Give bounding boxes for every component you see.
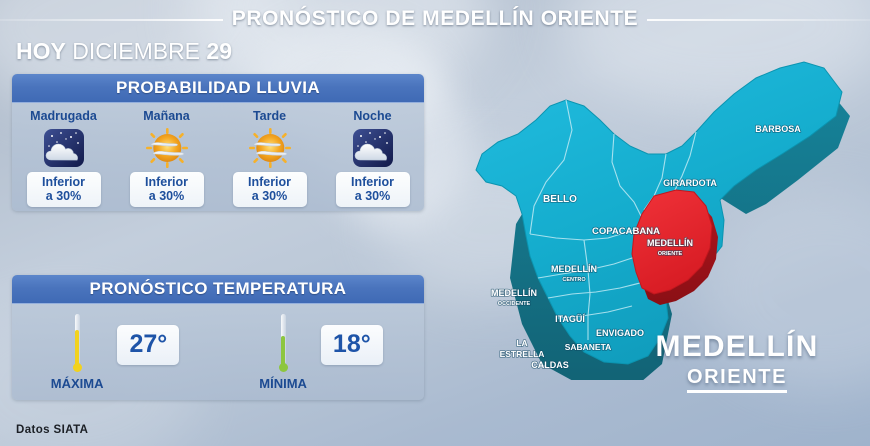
rain-value-box: Inferior a 30% bbox=[130, 172, 204, 207]
map-label-caldas: CALDAS bbox=[531, 360, 569, 370]
map-label-medellin-centro: MEDELLÍN bbox=[551, 264, 597, 274]
rain-value-line1: Inferior bbox=[137, 175, 197, 189]
temperature-panel-header: PRONÓSTICO TEMPERATURA bbox=[12, 275, 424, 304]
map-big-subtitle: ORIENTE bbox=[687, 366, 787, 393]
page-title-row: PRONÓSTICO DE MEDELLÍN ORIENTE bbox=[0, 4, 870, 34]
rain-value-line1: Inferior bbox=[343, 175, 403, 189]
night-cloud-icon bbox=[350, 124, 396, 172]
map-label-sabaneta: SABANETA bbox=[565, 342, 612, 352]
map-big-title: MEDELLÍN bbox=[612, 330, 862, 364]
map-label-medellin-occidente: MEDELLÍN bbox=[491, 288, 537, 298]
rain-column-manana: Mañana bbox=[115, 103, 218, 211]
night-cloud-icon bbox=[41, 124, 87, 172]
rain-period-label: Noche bbox=[353, 109, 391, 123]
rain-value-line2: a 30% bbox=[137, 189, 197, 203]
rain-column-madrugada: Madrugada bbox=[12, 103, 115, 211]
rain-value-box: Inferior a 30% bbox=[233, 172, 307, 207]
min-value-box: 18° bbox=[321, 325, 383, 365]
thermometer-min-icon bbox=[279, 314, 288, 372]
rain-column-tarde: Tarde bbox=[218, 103, 321, 211]
rain-panel-header: PROBABILIDAD LLUVIA bbox=[12, 74, 424, 103]
page-title: PRONÓSTICO DE MEDELLÍN ORIENTE bbox=[223, 7, 648, 31]
rain-value-line2: a 30% bbox=[240, 189, 300, 203]
temperature-panel: PRONÓSTICO TEMPERATURA MÁXIMA 27° bbox=[12, 275, 424, 400]
temperature-panel-body: MÁXIMA 27° MÍNIMA 18° bbox=[12, 304, 424, 400]
max-value: 27° bbox=[129, 330, 167, 358]
rain-period-label: Mañana bbox=[143, 109, 190, 123]
rain-panel-body: Madrugada bbox=[12, 103, 424, 211]
max-label: MÁXIMA bbox=[51, 376, 104, 391]
map-label-medellin-occidente-sub: OCCIDENTE bbox=[498, 301, 531, 307]
map-title-block: MEDELLÍN ORIENTE bbox=[612, 330, 862, 393]
map-label-copacabana: COPACABANA bbox=[592, 226, 660, 237]
map-label-medellin-oriente-sub: ORIENTE bbox=[658, 251, 683, 257]
map-label-la-estrella-sub: ESTRELLA bbox=[500, 349, 545, 359]
rain-value-line1: Inferior bbox=[34, 175, 94, 189]
map-label-medellin-oriente: MEDELLÍN bbox=[647, 238, 693, 248]
rain-period-label: Tarde bbox=[253, 109, 286, 123]
title-rule-left bbox=[0, 19, 223, 21]
map-label-bello: BELLO bbox=[543, 194, 577, 205]
month-label: DICIEMBRE bbox=[72, 38, 200, 64]
map-label-itagui: ITAGÜÍ bbox=[555, 314, 585, 324]
rain-value-line1: Inferior bbox=[240, 175, 300, 189]
rain-value-line2: a 30% bbox=[343, 189, 403, 203]
map-label-medellin-centro-sub: CENTRO bbox=[562, 277, 586, 283]
max-thermometer-wrap: MÁXIMA bbox=[51, 314, 104, 391]
thermometer-max-icon bbox=[73, 314, 82, 372]
temperature-max-group: MÁXIMA 27° bbox=[12, 314, 218, 391]
data-source-label: Datos SIATA bbox=[16, 424, 88, 436]
date-line: HOY DICIEMBRE 29 bbox=[16, 38, 232, 65]
map-label-barbosa: BARBOSA bbox=[755, 124, 801, 134]
map-label-la-estrella: LA bbox=[516, 338, 527, 348]
map-label-girardota: GIRARDOTA bbox=[663, 178, 717, 188]
rain-panel-title: PROBABILIDAD LLUVIA bbox=[116, 78, 320, 98]
day-label: 29 bbox=[206, 38, 232, 64]
today-label: HOY bbox=[16, 38, 66, 64]
rain-value-line2: a 30% bbox=[34, 189, 94, 203]
rain-value-box: Inferior a 30% bbox=[336, 172, 410, 207]
temperature-panel-title: PRONÓSTICO TEMPERATURA bbox=[90, 279, 347, 299]
rain-value-box: Inferior a 30% bbox=[27, 172, 101, 207]
temperature-min-group: MÍNIMA 18° bbox=[218, 314, 424, 391]
rain-column-noche: Noche Inferior a 30% bbox=[321, 103, 424, 211]
min-label: MÍNIMA bbox=[259, 376, 307, 391]
min-value: 18° bbox=[333, 330, 371, 358]
rain-period-label: Madrugada bbox=[30, 109, 97, 123]
min-thermometer-wrap: MÍNIMA bbox=[259, 314, 307, 391]
sun-cloud-icon bbox=[247, 124, 293, 172]
title-rule-right bbox=[647, 19, 870, 21]
sun-cloud-icon bbox=[144, 124, 190, 172]
rain-probability-panel: PROBABILIDAD LLUVIA Madrugada bbox=[12, 74, 424, 211]
max-value-box: 27° bbox=[117, 325, 179, 365]
